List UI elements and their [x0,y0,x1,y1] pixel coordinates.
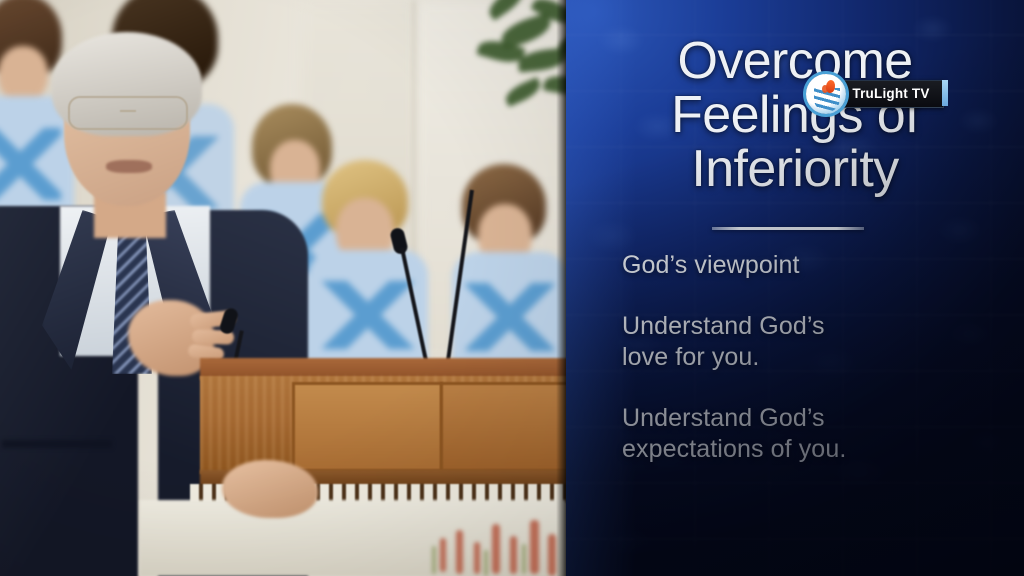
channel-watermark: TruLight TV [806,74,950,114]
slide-title-line-1: Overcome [566,34,1024,88]
sermon-slide-pane: Overcome Feelings of Inferiority God’s v… [566,0,1024,576]
mouth [106,160,152,173]
sermon-video-pane [0,0,566,576]
watermark-accent-bar [942,80,948,106]
hand-on-pulpit [222,460,318,518]
slide-title: Overcome Feelings of Inferiority [566,34,1024,196]
trulight-logo-icon [806,74,846,114]
watermark-label: TruLight TV [839,81,943,107]
bullet-line: love for you. [622,342,1012,373]
bullet-line: expectations of you. [622,434,1012,465]
video-right-edge-shadow [556,0,566,576]
slide-title-line-3: Inferiority [566,142,1024,196]
bullet-line: Understand God’s [622,311,1012,342]
jacket-pocket [2,440,112,448]
slide-bullet-list: God’s viewpoint Understand God’s love fo… [622,250,1012,465]
title-divider-rule [712,227,864,230]
eyeglasses [68,96,188,130]
slide-title-line-2: Feelings of [566,88,1024,142]
bullet-item: Understand God’s expectations of you. [622,403,1012,465]
bullet-line: Understand God’s [622,403,1012,434]
bullet-item: God’s viewpoint [622,250,1012,281]
bullet-line: God’s viewpoint [622,250,1012,281]
watermark-badge: TruLight TV [838,80,944,108]
broadcast-screenshot: Overcome Feelings of Inferiority God’s v… [0,0,1024,576]
flower-arrangement [430,516,566,576]
bullet-item: Understand God’s love for you. [622,311,1012,373]
